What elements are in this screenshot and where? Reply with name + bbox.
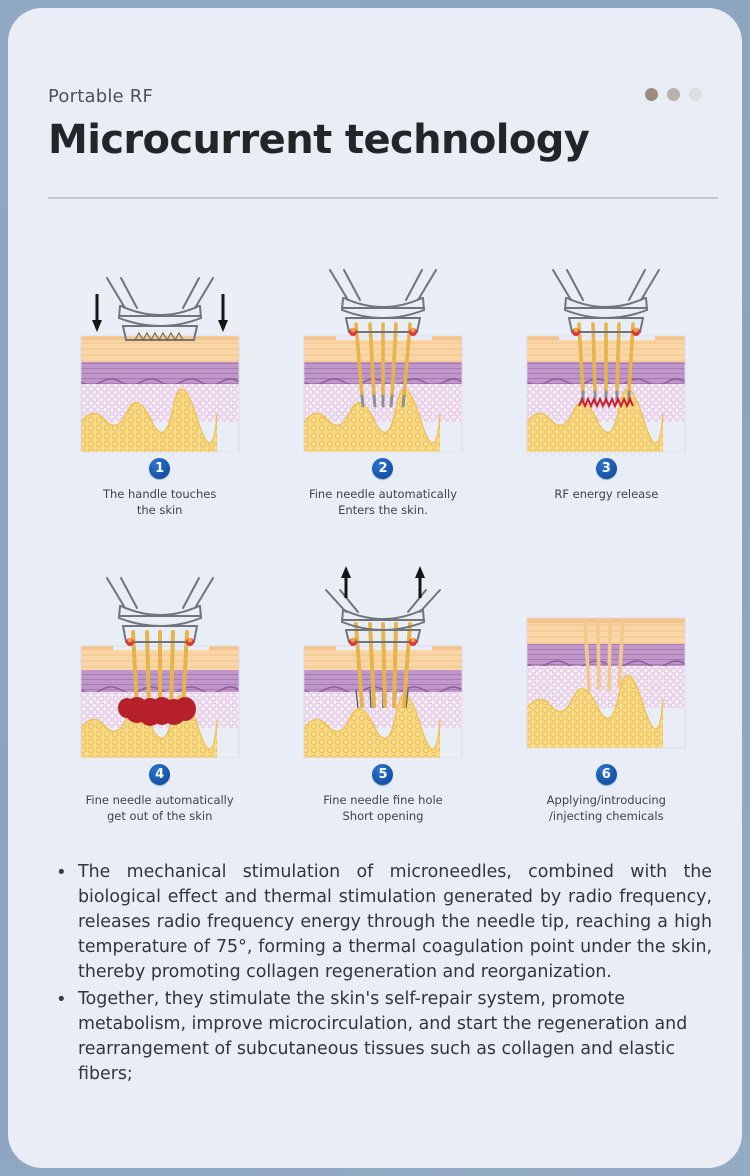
description-list: • The mechanical stimulation of micronee… xyxy=(52,860,712,1089)
process-step-5: 5 Fine needle fine hole Short opening xyxy=(271,562,494,824)
dot-2-icon xyxy=(667,88,680,101)
step-caption-2: Fine needle automatically Enters the ski… xyxy=(309,487,457,518)
page-background: Portable RF Microcurrent technology xyxy=(0,0,750,1176)
dot-3-icon xyxy=(689,88,702,101)
step-badge-1: 1 xyxy=(149,458,170,479)
process-diagram-grid: 1 The handle touches the skin xyxy=(48,256,718,824)
step-caption-6: Applying/introducing /injecting chemical… xyxy=(547,793,666,824)
needle-retract-diagram xyxy=(286,562,480,758)
process-step-4: 4 Fine needle automatically get out of t… xyxy=(48,562,271,824)
dot-1-icon xyxy=(645,88,658,101)
step-caption-4: Fine needle automatically get out of the… xyxy=(86,793,234,824)
bullet-marker: • xyxy=(52,987,78,1087)
chemical-channels-diagram xyxy=(509,562,703,758)
process-step-6: 6 Applying/introducing /injecting chemic… xyxy=(495,562,718,824)
step-caption-1: The handle touches the skin xyxy=(103,487,216,518)
slide-header: Portable RF Microcurrent technology xyxy=(48,86,718,161)
step-badge-3: 3 xyxy=(596,458,617,479)
coagulation-diagram xyxy=(63,562,257,758)
step-badge-2: 2 xyxy=(372,458,393,479)
handle-touch-diagram xyxy=(63,256,257,452)
page-title: Microcurrent technology xyxy=(48,119,718,161)
step-badge-5: 5 xyxy=(372,764,393,785)
needle-enter-diagram xyxy=(286,256,480,452)
step-badge-6: 6 xyxy=(596,764,617,785)
slide-card: Portable RF Microcurrent technology xyxy=(8,8,742,1168)
process-step-3: 3 RF energy release xyxy=(495,256,718,518)
process-step-2: 2 Fine needle automatically Enters the s… xyxy=(271,256,494,518)
list-item: • Together, they stimulate the skin's se… xyxy=(52,987,712,1087)
bullet-marker: • xyxy=(52,860,78,985)
header-divider xyxy=(48,197,718,199)
bullet-text-2: Together, they stimulate the skin's self… xyxy=(78,987,712,1087)
list-item: • The mechanical stimulation of micronee… xyxy=(52,860,712,985)
step-caption-5: Fine needle fine hole Short opening xyxy=(323,793,443,824)
up-arrow-icons xyxy=(341,566,425,598)
page-indicator-dots xyxy=(645,88,702,101)
step-caption-3: RF energy release xyxy=(554,487,658,503)
bullet-text-1: The mechanical stimulation of microneedl… xyxy=(78,860,712,985)
process-step-1: 1 The handle touches the skin xyxy=(48,256,271,518)
rf-release-diagram xyxy=(509,256,703,452)
eyebrow-label: Portable RF xyxy=(48,86,718,107)
step-badge-4: 4 xyxy=(149,764,170,785)
